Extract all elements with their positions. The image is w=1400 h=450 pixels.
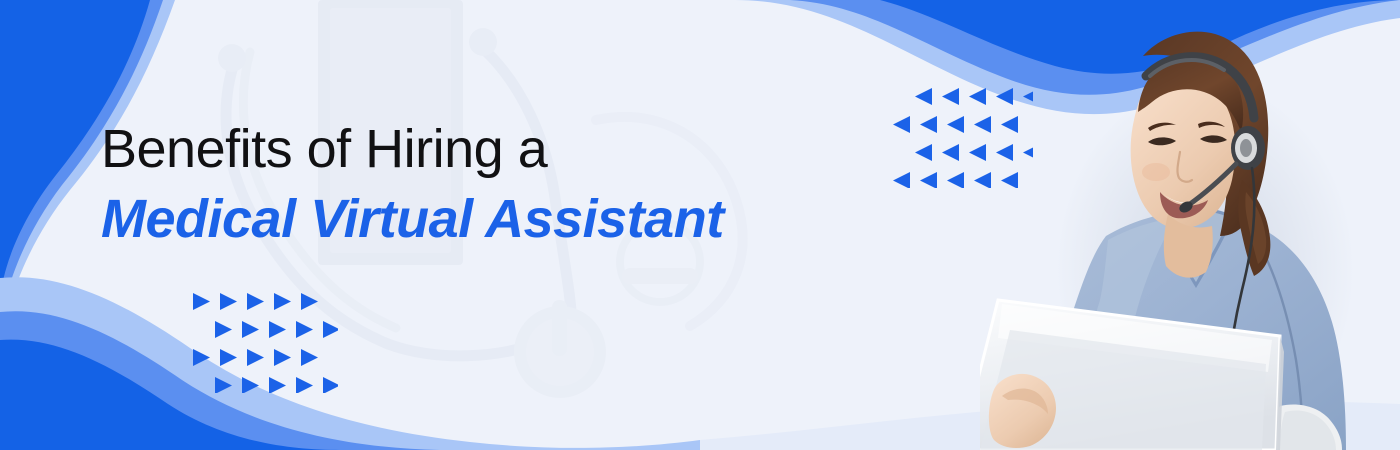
- triangle-left-icon: [893, 172, 910, 188]
- triangle-right-icon: [247, 293, 264, 310]
- triangle-left-icon: [942, 88, 959, 105]
- triangle-right-icon: [301, 349, 318, 366]
- headline-line-1: Benefits of Hiring a: [101, 118, 861, 180]
- triangle-left-icon: [915, 144, 932, 161]
- page-title: Benefits of Hiring a Medical Virtual Ass…: [101, 118, 861, 250]
- triangle-right-icon: [193, 293, 210, 310]
- triangle-right-icon: [242, 321, 259, 338]
- triangle-right-icon: [269, 321, 286, 338]
- triangle-right-icon: [323, 321, 338, 338]
- triangle-right-icon: [323, 377, 338, 393]
- triangle-right-icon: [215, 377, 232, 393]
- triangle-left-icon: [947, 172, 964, 188]
- triangle-right-icon: [296, 321, 313, 338]
- triangle-left-icon: [920, 172, 937, 188]
- triangle-right-icon: [296, 377, 313, 393]
- headline-line-2: Medical Virtual Assistant: [101, 188, 861, 250]
- triangle-right-icon: [301, 293, 318, 310]
- triangle-left-icon: [942, 144, 959, 161]
- triangle-right-icon: [242, 377, 259, 393]
- triangle-right-icon: [274, 349, 291, 366]
- triangle-right-icon: [269, 377, 286, 393]
- medical-virtual-assistant-banner: Benefits of Hiring a Medical Virtual Ass…: [0, 0, 1400, 450]
- triangle-right-icon: [193, 349, 210, 366]
- triangle-left-icon: [947, 116, 964, 133]
- medical-virtual-assistant-photo: [980, 0, 1400, 450]
- triangle-right-icon: [215, 321, 232, 338]
- triangle-grid-right-pointing: [193, 291, 338, 393]
- triangle-left-icon: [920, 116, 937, 133]
- triangle-right-icon: [220, 349, 237, 366]
- triangle-left-icon: [915, 88, 932, 105]
- triangle-right-icon: [274, 293, 291, 310]
- triangle-right-icon: [247, 349, 264, 366]
- triangle-right-icon: [220, 293, 237, 310]
- triangle-left-icon: [893, 116, 910, 133]
